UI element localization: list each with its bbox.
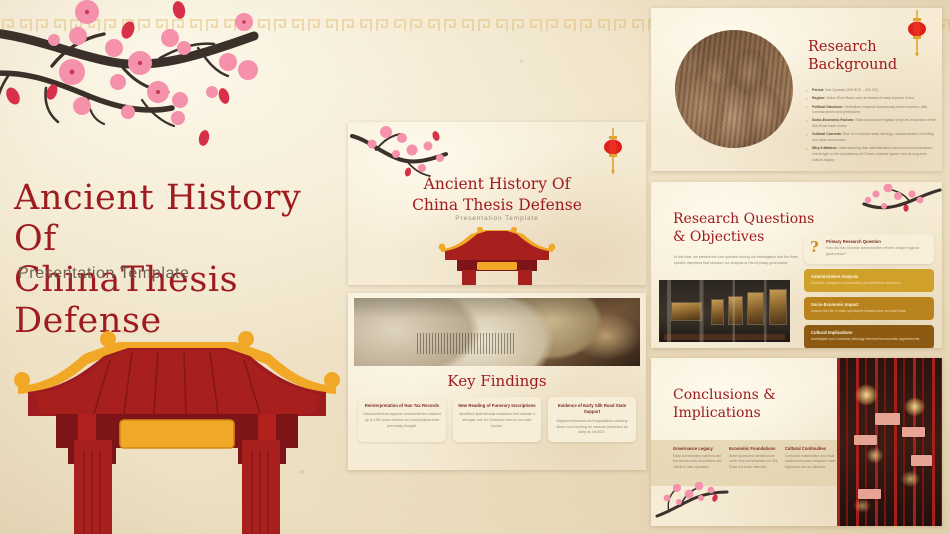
bullet-text: Yellow River Basin core territories of e…	[826, 96, 914, 100]
card-body: Examine changes in commandery and prefec…	[811, 281, 927, 286]
card-body: Assess the role of state-sponsored infra…	[811, 309, 927, 314]
card-title: Administrative Analysis	[811, 274, 927, 279]
heading-line2: Implications	[673, 404, 823, 422]
bullet-label: Cultural Currents:	[812, 132, 842, 136]
framed-artwork	[671, 302, 702, 321]
hero-title-line1: Ancient History Of	[14, 178, 344, 260]
research-background-heading: Research Background	[808, 38, 938, 74]
museum-gallery-photo	[659, 280, 790, 342]
pagoda-gate-icon	[437, 227, 557, 285]
pagoda-gate-icon	[8, 330, 346, 534]
list-item: Period: Han Dynasty (206 BCE – 220 CE)	[806, 88, 939, 94]
slide-preview-research-background[interactable]: Research Background Period: Han Dynasty …	[651, 8, 942, 171]
paper-speck	[520, 60, 523, 63]
slide-title-line2: China Thesis Defense	[348, 195, 646, 216]
list-item: Region: Yellow River Basin core territor…	[806, 96, 939, 102]
ancient-scrolls-photo	[354, 298, 640, 366]
list-item: Socio-Economic Factors: State-sponsored …	[806, 118, 939, 129]
bullet-label: Why It Matters:	[812, 146, 837, 150]
research-background-bullet-list: Period: Han Dynasty (206 BCE – 220 CE) R…	[806, 88, 939, 166]
heading-line1: Conclusions &	[673, 386, 823, 404]
card-title: New Reading of Funerary Inscriptions	[458, 403, 536, 409]
key-finding-card[interactable]: Evidence of Early Silk Road State Suppor…	[548, 397, 636, 442]
list-item: Political Structure: Centralized imperia…	[806, 105, 939, 116]
bullet-label: Period:	[812, 88, 824, 92]
bullet-label: Political Structure:	[812, 105, 843, 109]
prayer-tag	[858, 489, 881, 499]
conclusion-column: Cultural Continuities Confucian examinat…	[785, 446, 838, 470]
prayer-tag	[854, 435, 877, 445]
chinese-lanterns-photo	[837, 358, 942, 526]
conclusion-column: Governance Legacy Early commandery syste…	[673, 446, 723, 470]
framed-artwork	[711, 299, 724, 325]
list-item: Why It Matters: Understanding Han admini…	[806, 146, 939, 163]
card-title: Primary Research Question	[826, 239, 928, 244]
card-title: Evidence of Early Silk Road State Suppor…	[553, 403, 631, 416]
research-questions-heading: Research Questions & Objectives	[673, 210, 823, 246]
heading-line1: Research	[808, 38, 938, 56]
key-finding-card[interactable]: Reinterpretation of Han Tax Records Disc…	[358, 397, 446, 442]
card-body: How did Han Dynasty administrative refor…	[826, 246, 928, 258]
column-body: Confucian examination and ritual practic…	[785, 454, 838, 471]
card-body: Mapped fortresses and waystations showin…	[553, 419, 631, 436]
key-findings-card-list: Reinterpretation of Han Tax Records Disc…	[358, 397, 636, 442]
card-body: Identified ritual formula variations tha…	[458, 412, 536, 429]
conclusions-heading: Conclusions & Implications	[673, 386, 823, 422]
card-title: Cultural Implications	[811, 330, 927, 335]
bullet-label: Region:	[812, 96, 825, 100]
prayer-tag	[875, 413, 900, 425]
slide-title-text: Ancient History Of China Thesis Defense	[348, 174, 646, 216]
terracotta-army-photo	[675, 30, 793, 148]
slide-subtitle: Presentation Template	[348, 215, 646, 222]
column-title: Cultural Continuities	[785, 446, 838, 451]
card-title: Socio-Economic Impact	[811, 302, 927, 307]
presentation-template-showcase: Ancient History Of ChinaThesis Defense P…	[0, 0, 950, 534]
question-mark-icon: ?	[810, 240, 819, 255]
heading-line2: Background	[808, 56, 938, 74]
prayer-tag	[902, 427, 925, 437]
objective-card-administrative-analysis[interactable]: Administrative Analysis Examine changes …	[804, 269, 934, 292]
framed-artwork	[747, 292, 764, 324]
hero-subtitle: Presentation Template	[18, 265, 190, 283]
card-title: Reinterpretation of Han Tax Records	[363, 403, 441, 409]
slide-preview-key-findings[interactable]: Key Findings Reinterpretation of Han Tax…	[348, 293, 646, 470]
objective-card-cultural-implications[interactable]: Cultural Implications Investigate how Co…	[804, 325, 934, 348]
card-body: Investigate how Confucian ideology infor…	[811, 337, 927, 342]
prayer-tag	[911, 455, 932, 465]
primary-research-question-card[interactable]: ? Primary Research Question How did Han …	[804, 234, 934, 264]
column-body: State-sponsored infrastructure under Han…	[729, 454, 779, 471]
conclusions-column-list: Governance Legacy Early commandery syste…	[673, 446, 838, 470]
framed-artwork	[769, 289, 787, 325]
column-body: Early commandery systems laid the bureau…	[673, 454, 723, 471]
key-finding-card[interactable]: New Reading of Funerary Inscriptions Ide…	[453, 397, 541, 442]
research-questions-intro: In this slide, we present the core quest…	[674, 255, 807, 267]
conclusion-column: Economic Foundations State-sponsored inf…	[729, 446, 779, 470]
cherry-blossom-branch-icon	[0, 0, 260, 146]
research-objectives-list: ? Primary Research Question How did Han …	[804, 234, 934, 348]
key-findings-heading: Key Findings	[348, 372, 646, 390]
bullet-label: Socio-Economic Factors:	[812, 118, 854, 122]
column-title: Economic Foundations	[729, 446, 779, 451]
card-body: Discovered that regional commanderies re…	[363, 412, 441, 429]
objective-card-socio-economic-impact[interactable]: Socio-Economic Impact Assess the role of…	[804, 297, 934, 320]
gallery-bench	[664, 334, 785, 340]
red-lantern-icon	[602, 128, 624, 176]
slide-title-line1: Ancient History Of	[348, 174, 646, 195]
cherry-blossom-branch-icon	[862, 184, 942, 218]
slide-preview-title[interactable]: Ancient History Of China Thesis Defense …	[348, 122, 646, 285]
slide-preview-conclusions[interactable]: Conclusions & Implications Governance Le…	[651, 358, 942, 526]
cherry-blossom-branch-icon	[655, 482, 729, 522]
list-item: Cultural Currents: Rise of Confucian sta…	[806, 132, 939, 143]
page-title: Ancient History Of ChinaThesis Defense	[14, 178, 344, 342]
column-title: Governance Legacy	[673, 446, 723, 451]
slide-preview-research-questions[interactable]: Research Questions & Objectives In this …	[651, 182, 942, 348]
bullet-text: Han Dynasty (206 BCE – 220 CE)	[825, 88, 878, 92]
framed-artwork	[728, 296, 742, 325]
heading-line1: Research Questions	[673, 210, 823, 228]
hero-panel: Ancient History Of ChinaThesis Defense P…	[0, 0, 345, 534]
heading-line2: & Objectives	[673, 228, 823, 246]
